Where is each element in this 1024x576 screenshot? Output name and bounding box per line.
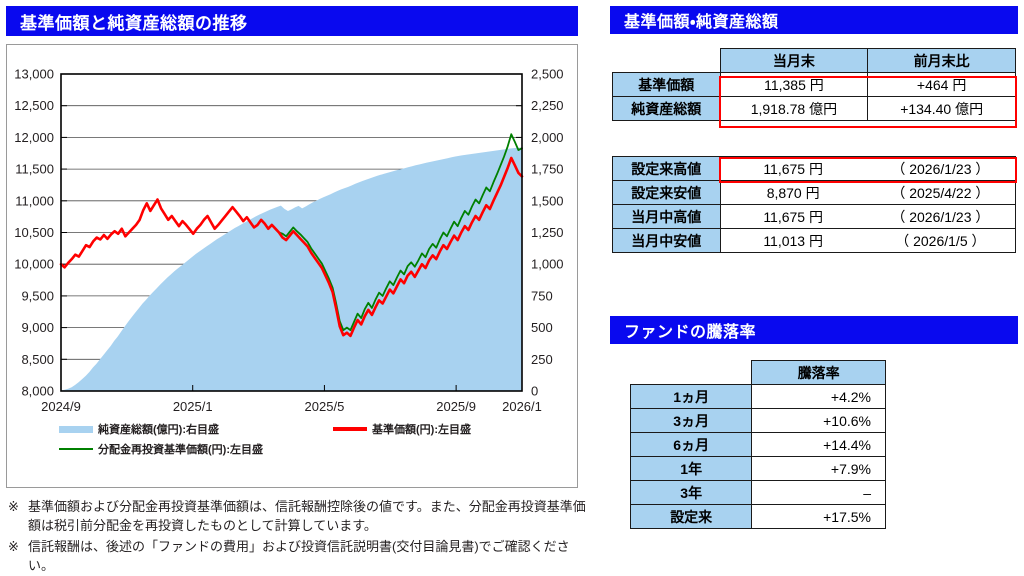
svg-text:0: 0 [531,384,538,399]
svg-text:12,000: 12,000 [14,130,54,145]
svg-text:1,750: 1,750 [531,162,564,177]
legend-item-nav: 基準価額(円):左目盛 [333,421,471,437]
row-label-month-high: 当月中高値 [613,205,721,229]
since-inception-high-date: （ 2026/1/23 ） [866,157,1016,181]
svg-text:750: 750 [531,288,553,303]
footnotes: ※ 基準価額および分配金再投資基準価額は、信託報酬控除後の値です。また、分配金再… [8,498,592,576]
row-label-since-inception-high: 設定来高値 [613,157,721,181]
table-row: 設定来安値 8,870 円 （ 2025/4/22 ） [613,181,1016,205]
row-label-month-low: 当月中安値 [613,229,721,253]
chart-section-title-label: 基準価額と純資産総額の推移 [20,9,248,34]
net-assets-change-value: +134.40 億円 [868,97,1016,121]
svg-text:1,000: 1,000 [531,257,564,272]
row-label-since-inception-low: 設定来安値 [613,181,721,205]
svg-text:8,000: 8,000 [21,384,54,399]
rise-value-since-inception: +17.5% [752,505,886,529]
footnote-1: ※ 基準価額および分配金再投資基準価額は、信託報酬控除後の値です。また、分配金再… [8,498,592,536]
svg-text:250: 250 [531,352,553,367]
net-assets-current-value: 1,918.78 億円 [720,97,868,121]
since-inception-low-date: （ 2025/4/22 ） [866,181,1016,205]
rise-value-1-year: +7.9% [752,457,886,481]
column-header-change: 前月末比 [868,49,1016,73]
svg-text:1,500: 1,500 [531,193,564,208]
svg-text:2025/5: 2025/5 [305,399,345,414]
table-row: 1ヵ月 +4.2% [631,385,886,409]
rise-section-title-label: ファンドの騰落率 [624,318,756,342]
svg-text:12,500: 12,500 [14,98,54,113]
table-row: 当月中安値 11,013 円 （ 2026/1/5 ） [613,229,1016,253]
table-row: 1年 +7.9% [631,457,886,481]
price-section-title-label: 基準価額・純資産総額 [624,8,778,32]
footnote-1-mark: ※ [8,498,28,536]
svg-text:500: 500 [531,320,553,335]
table-header-row: 騰落率 [631,361,886,385]
column-header-rise-fall: 騰落率 [752,361,886,385]
rise-value-3-month: +10.6% [752,409,886,433]
nav-current-value: 11,385 円 [720,73,868,97]
svg-text:11,500: 11,500 [15,162,54,177]
legend-item-net-assets: 純資産総額(億円):右目盛 [59,421,219,437]
price-summary-table: 当月末 前月末比 基準価額 11,385 円 +464 円 純資産総額 1,91… [612,48,1016,121]
legend-label-net-assets: 純資産総額(億円):右目盛 [98,421,219,437]
row-label-6-month: 6ヵ月 [631,433,752,457]
rise-section-title: ファンドの騰落率 [610,316,1018,344]
legend-item-reinvested: 分配金再投資基準価額(円):左目盛 [59,441,263,457]
since-inception-high-value: 11,675 円 [720,157,866,181]
svg-text:2,500: 2,500 [531,67,564,82]
nav-change-value: +464 円 [868,73,1016,97]
chart-legend: 純資産総額(億円):右目盛 基準価額(円):左目盛 分配金再投資基準価額(円):… [7,417,579,457]
net-assets-swatch-icon [59,426,93,433]
legend-label-nav: 基準価額(円):左目盛 [372,421,471,437]
table-row: 当月中高値 11,675 円 （ 2026/1/23 ） [613,205,1016,229]
table-row: 純資産総額 1,918.78 億円 +134.40 億円 [613,97,1016,121]
rise-value-3-year: – [752,481,886,505]
corner-cell [613,49,721,73]
table-row: 設定来高値 11,675 円 （ 2026/1/23 ） [613,157,1016,181]
table-row: 基準価額 11,385 円 +464 円 [613,73,1016,97]
month-low-value: 11,013 円 [720,229,866,253]
svg-text:10,000: 10,000 [14,257,54,272]
legend-label-reinvested: 分配金再投資基準価額(円):左目盛 [98,441,263,457]
svg-text:2026/1: 2026/1 [502,399,542,414]
svg-text:11,000: 11,000 [15,193,54,208]
chart-panel: 8,00008,5002509,0005009,50075010,0001,00… [6,44,578,488]
month-low-date: （ 2026/1/5 ） [866,229,1016,253]
since-inception-low-value: 8,870 円 [720,181,866,205]
svg-text:13,000: 13,000 [14,67,54,82]
chart-section-title: 基準価額と純資産総額の推移 [6,6,578,36]
footnote-2-text: 信託報酬は、後述の「ファンドの費用」および投資信託説明書(交付目論見書)でご確認… [28,538,592,576]
svg-text:9,000: 9,000 [21,320,54,335]
rise-value-6-month: +14.4% [752,433,886,457]
row-label-net-assets: 純資産総額 [613,97,721,121]
svg-text:2025/1: 2025/1 [173,399,213,414]
svg-text:10,500: 10,500 [14,225,54,240]
table-row: 3年 – [631,481,886,505]
row-label-nav: 基準価額 [613,73,721,97]
footnote-2-mark: ※ [8,538,28,576]
legend-row-primary: 純資産総額(億円):右目盛 基準価額(円):左目盛 [7,421,579,437]
high-low-table: 設定来高値 11,675 円 （ 2026/1/23 ） 設定来安値 8,870… [612,156,1016,253]
row-label-1-year: 1年 [631,457,752,481]
column-header-current-month: 当月末 [720,49,868,73]
row-label-3-year: 3年 [631,481,752,505]
footnote-1-text: 基準価額および分配金再投資基準価額は、信託報酬控除後の値です。また、分配金再投資… [28,498,592,536]
legend-row-secondary: 分配金再投資基準価額(円):左目盛 [7,441,579,457]
rise-fall-table: 騰落率 1ヵ月 +4.2% 3ヵ月 +10.6% 6ヵ月 +14.4% 1年 +… [630,360,886,529]
corner-cell [631,361,752,385]
rise-value-1-month: +4.2% [752,385,886,409]
svg-text:8,500: 8,500 [21,352,54,367]
price-section-title: 基準価額・純資産総額 [610,6,1018,34]
nav-and-net-assets-chart: 8,00008,5002509,0005009,50075010,0001,00… [7,45,577,445]
table-row: 6ヵ月 +14.4% [631,433,886,457]
table-row: 3ヵ月 +10.6% [631,409,886,433]
month-high-value: 11,675 円 [720,205,866,229]
footnote-2: ※ 信託報酬は、後述の「ファンドの費用」および投資信託説明書(交付目論見書)でご… [8,538,592,576]
reinvested-swatch-icon [59,448,93,450]
row-label-since-inception: 設定来 [631,505,752,529]
table-header-row: 当月末 前月末比 [613,49,1016,73]
nav-swatch-icon [333,427,367,431]
svg-text:2,000: 2,000 [531,130,564,145]
svg-text:2,250: 2,250 [531,98,564,113]
svg-text:2024/9: 2024/9 [41,399,81,414]
svg-text:1,250: 1,250 [531,225,564,240]
row-label-1-month: 1ヵ月 [631,385,752,409]
svg-text:9,500: 9,500 [21,288,54,303]
row-label-3-month: 3ヵ月 [631,409,752,433]
svg-text:2025/9: 2025/9 [436,399,476,414]
month-high-date: （ 2026/1/23 ） [866,205,1016,229]
factsheet-page: 基準価額と純資産総額の推移 8,00008,5002509,0005009,50… [0,0,1024,576]
table-row: 設定来 +17.5% [631,505,886,529]
